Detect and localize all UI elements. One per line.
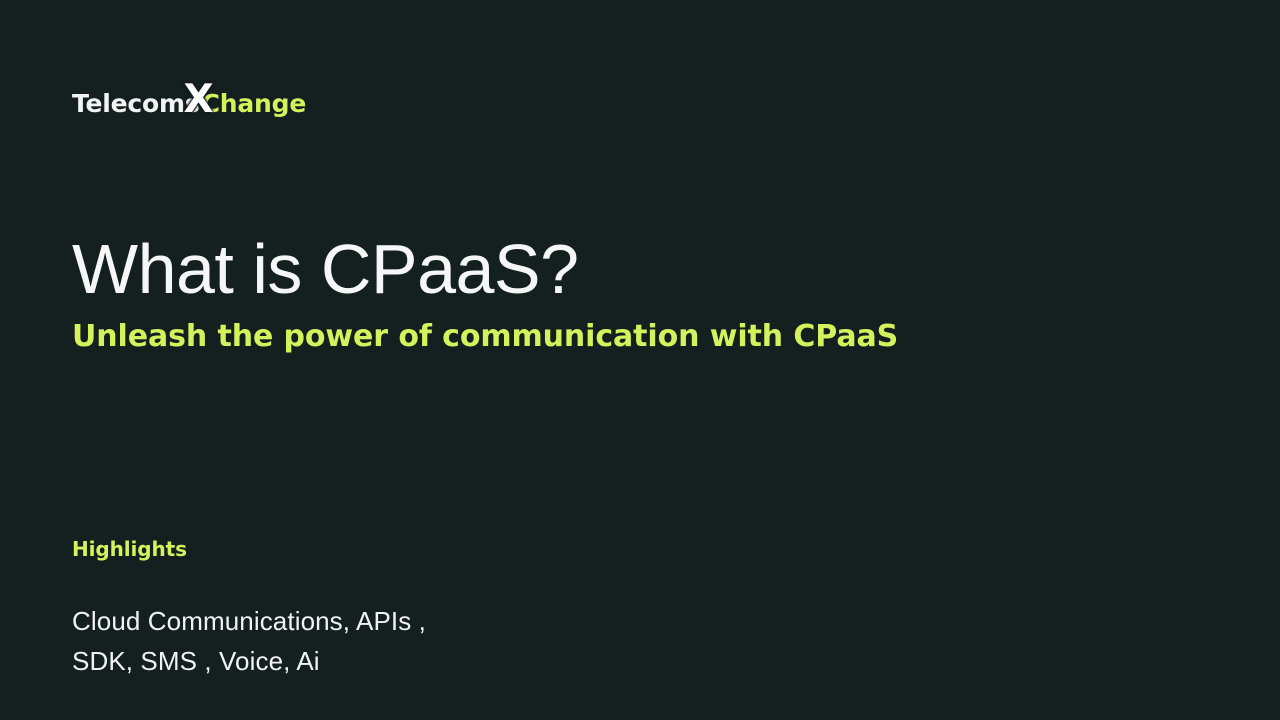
page-subtitle: Unleash the power of communication with … [72,320,1172,355]
highlights-line: Cloud Communications, APIs , [72,601,972,641]
page-title: What is CPaaS? [72,232,1172,306]
brand-logo-text-change: Change [202,91,306,116]
highlights-line: SDK, SMS , Voice, Ai [72,641,972,681]
highlights-block: Highlights Cloud Communications, APIs , … [72,537,972,681]
brand-logo-text-telecoms: Telecoms [72,91,200,116]
brand-logo[interactable]: Telecoms X Change [72,80,306,122]
highlights-section-label: Highlights [72,537,972,561]
highlights-body: Cloud Communications, APIs , SDK, SMS , … [72,601,972,681]
brand-x-mark-icon: X [184,80,214,119]
headline-block: What is CPaaS? Unleash the power of comm… [72,232,1172,355]
presentation-slide: Telecoms X Change What is CPaaS? Unleash… [0,0,1280,720]
